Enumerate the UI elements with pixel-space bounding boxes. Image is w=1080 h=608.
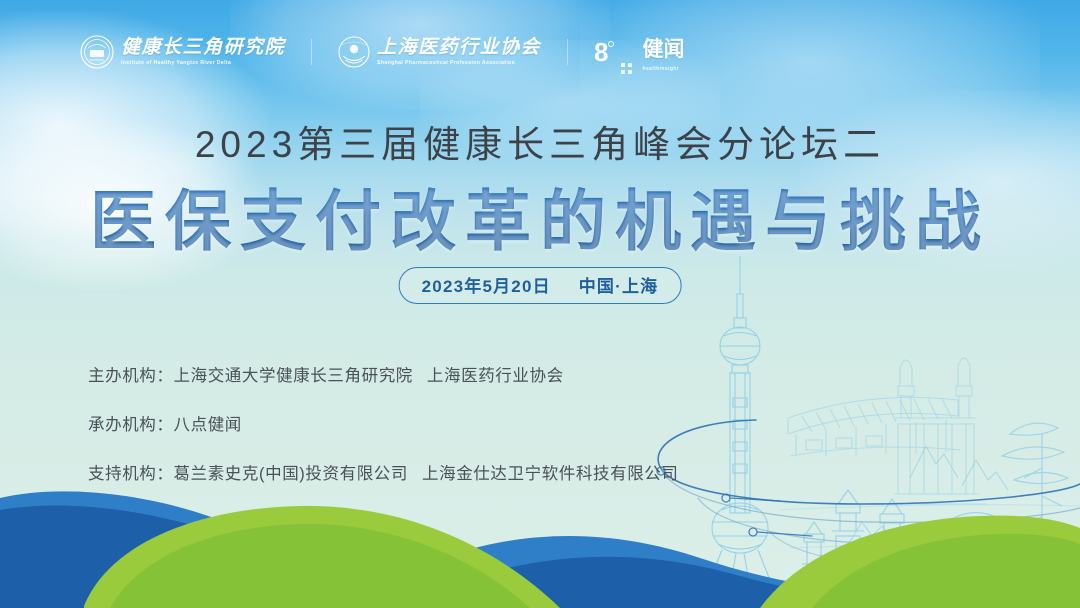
mountain-ridges-icon — [846, 446, 1050, 566]
date-location-badge: 2023年5月20日 中国·上海 — [399, 267, 682, 304]
supporter-label: 支持机构： — [88, 465, 174, 483]
sponsor-logo-bar: 健康长三角研究院 Institute of Healthy Yangtze Ri… — [80, 28, 685, 76]
classical-gate-icon — [890, 358, 986, 504]
lupu-bridge-icon — [788, 397, 960, 456]
logo-label-cn: 健闻 — [643, 33, 685, 63]
logo-divider — [567, 39, 568, 65]
co-organizer-value: 八点健闻 — [174, 416, 242, 434]
poster-subtitle: 2023第三届健康长三角峰会分论坛二 — [0, 114, 1080, 168]
organizer-value: 上海交通大学健康长三角研究院 — [174, 367, 413, 385]
seal-emblem-icon — [80, 35, 114, 69]
logo-label-en: Shanghai Pharmaceutical Profession Assoc… — [377, 61, 541, 66]
oriental-pearl-tower-icon — [702, 256, 778, 600]
supporter-line: 支持机构：葛兰素史克(中国)投资有限公司上海金仕达卫宁软件科技有限公司 — [88, 460, 679, 484]
circular-emblem-icon — [338, 36, 370, 68]
pagoda-towers-icon — [802, 490, 910, 599]
organizer-line: 主办机构：上海交通大学健康长三角研究院上海医药行业协会 — [88, 362, 679, 386]
organization-info-block: 主办机构：上海交通大学健康长三角研究院上海医药行业协会 承办机构：八点健闻 支持… — [88, 362, 679, 484]
event-date: 2023年5月20日 — [422, 277, 551, 296]
logo-label-cn: 健康长三角研究院 — [121, 38, 285, 57]
logo-label-en: healthinsight — [643, 66, 685, 72]
orbital-rings-graphic — [640, 398, 1080, 588]
organizer-label: 主办机构： — [88, 367, 174, 385]
logo-eight-point-health-insight: 8 健闻 healthinsight — [594, 30, 684, 74]
event-location: 中国·上海 — [579, 277, 659, 296]
logo-shanghai-pharmaceutical-profession-association: 上海医药行业协会 Shanghai Pharmaceutical Profess… — [338, 30, 541, 74]
poster-main-title: 医保支付改革的机遇与挑战 — [0, 168, 1080, 264]
shanghai-skyline-line-art — [610, 248, 1080, 608]
logo-divider — [311, 39, 312, 65]
logo-institute-healthy-yangtze-river-delta: 健康长三角研究院 Institute of Healthy Yangtze Ri… — [80, 30, 285, 74]
supporter-value: 葛兰素史克(中国)投资有限公司 — [174, 465, 409, 483]
supporter-value: 上海金仕达卫宁软件科技有限公司 — [422, 465, 679, 483]
pine-trees-icon — [878, 423, 1078, 572]
co-organizer-line: 承办机构：八点健闻 — [88, 411, 679, 435]
logo-numeral-eight: 8 — [594, 39, 613, 65]
conference-poster: 健康长三角研究院 Institute of Healthy Yangtze Ri… — [0, 0, 1080, 608]
logo-label-en: Institute of Healthy Yangtze River Delta — [121, 61, 285, 66]
organizer-value: 上海医药行业协会 — [427, 367, 564, 385]
logo-label-cn: 上海医药行业协会 — [377, 38, 541, 57]
co-organizer-label: 承办机构： — [88, 416, 174, 434]
qr-chip-icon — [621, 63, 632, 74]
